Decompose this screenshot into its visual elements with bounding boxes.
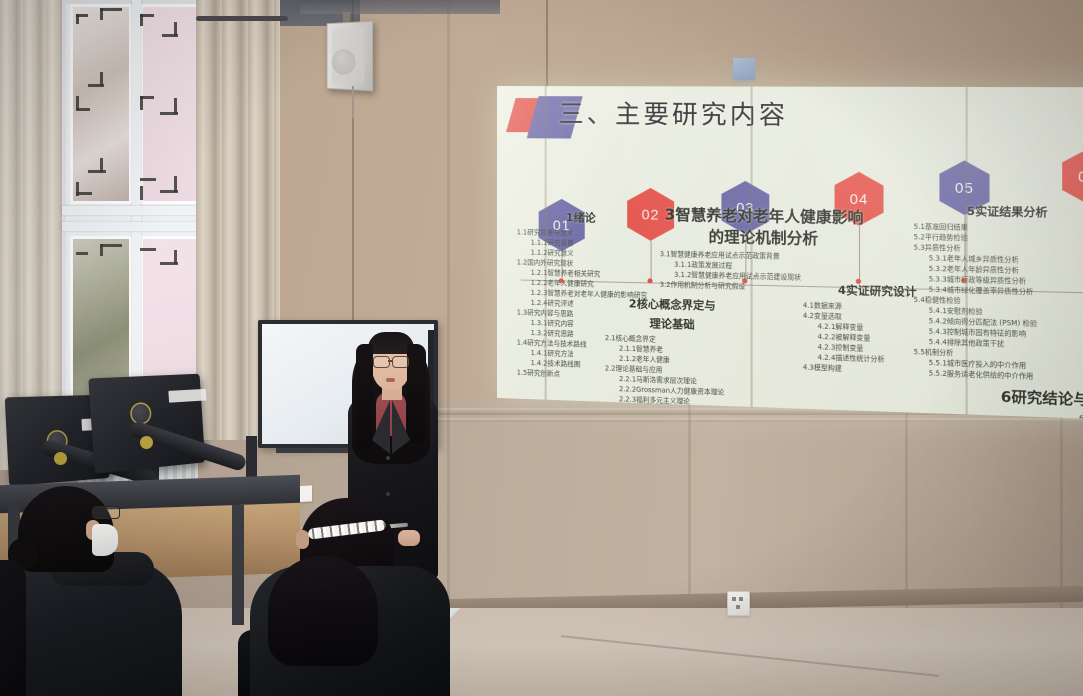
slide-section-02: 2核心概念界定与 理论基础 2.1核心概念界定 2.1.1智慧养老 2.1.2老… bbox=[605, 295, 740, 409]
presenter-coat-button bbox=[386, 456, 390, 460]
outlet-slot bbox=[736, 605, 740, 609]
monitor-arm-hub bbox=[140, 436, 153, 449]
timeline-marker-label: 04 bbox=[850, 190, 869, 207]
presenter-hand bbox=[398, 530, 420, 546]
face-mask bbox=[92, 524, 118, 556]
projected-slide: 三、主要研究内容 01 02 03 04 05 06 bbox=[497, 86, 1083, 420]
lectern-desk-leg bbox=[232, 505, 244, 625]
presenter-glasses-left-lens bbox=[373, 356, 390, 368]
screen-panel-seam bbox=[966, 86, 968, 420]
outlet-slot bbox=[732, 597, 736, 601]
timeline-stem bbox=[651, 241, 652, 282]
wall-panel-joint bbox=[1060, 402, 1063, 610]
presenter-coat-button bbox=[386, 492, 390, 496]
timeline-marker-06: 06 bbox=[1062, 149, 1083, 205]
audience-ear bbox=[296, 530, 309, 549]
audience-member-left-edge bbox=[0, 560, 26, 696]
screen-panel-seam bbox=[751, 86, 753, 420]
presenter-mouth bbox=[386, 378, 395, 382]
presentation-photo: 三、主要研究内容 01 02 03 04 05 06 bbox=[0, 0, 1083, 696]
section-heading-line2: 的理论机制分析 bbox=[660, 227, 869, 249]
section-heading: 3智慧养老对老年人健康影响 bbox=[660, 206, 869, 227]
section-heading: 5实证结果分析 bbox=[914, 202, 1083, 222]
timeline-dot bbox=[648, 278, 653, 283]
wall-outlet[interactable] bbox=[727, 591, 750, 616]
presenter-hair-left bbox=[356, 344, 373, 450]
section-outline: 2.1核心概念界定 2.1.1智慧养老 2.1.2老年人健康 2.2理论基础与应… bbox=[605, 333, 740, 409]
wall-panel-joint bbox=[546, 0, 548, 86]
slide-section-06: 6研究结论与展望 6.1研究结论 6.2对策建议 6.3研究局限与展望 bbox=[976, 385, 1083, 419]
section-heading-line2: 理论基础 bbox=[605, 314, 740, 334]
wall-rail-secondary bbox=[430, 418, 1083, 422]
projector-light-square bbox=[733, 58, 755, 80]
presenter-glasses-right-lens bbox=[392, 356, 409, 368]
presenter-glasses-bridge bbox=[388, 360, 392, 362]
slide-section-05: 5实证结果分析 5.1基准回归结果 5.2平行趋势检验 5.3异质性分析 5.3… bbox=[914, 202, 1083, 385]
wall-panel-joint bbox=[447, 0, 450, 600]
speaker-cone bbox=[332, 49, 356, 75]
monitor-asset-label bbox=[168, 389, 206, 403]
wall-speaker bbox=[327, 21, 373, 92]
presenter-hair-right bbox=[407, 344, 426, 444]
wall-panel-joint bbox=[688, 398, 691, 604]
wall-panel-joint bbox=[905, 400, 908, 610]
section-heading: 6研究结论与展望 bbox=[976, 385, 1083, 411]
speaker-cable bbox=[352, 86, 354, 118]
screen-panel-seam bbox=[545, 86, 547, 418]
section-outline: 5.1基准回归结果 5.2平行趋势检验 5.3异质性分析 5.3.1老年人城乡异… bbox=[914, 222, 1083, 385]
audience-glasses bbox=[92, 506, 120, 519]
slide-title: 三、主要研究内容 bbox=[559, 94, 789, 132]
outlet-slot bbox=[739, 597, 743, 601]
monitor-arm-hub bbox=[54, 452, 67, 465]
section-heading: 1绪论 bbox=[517, 208, 646, 226]
curtain-rod bbox=[196, 16, 288, 21]
lattice-window bbox=[62, 0, 208, 430]
timeline-marker-label: 05 bbox=[955, 179, 974, 196]
audience-member-front-head bbox=[268, 556, 378, 666]
ceiling-panel bbox=[300, 0, 500, 14]
timeline-marker-label: 06 bbox=[1078, 168, 1083, 185]
section-heading: 2核心概念界定与 bbox=[605, 295, 740, 315]
